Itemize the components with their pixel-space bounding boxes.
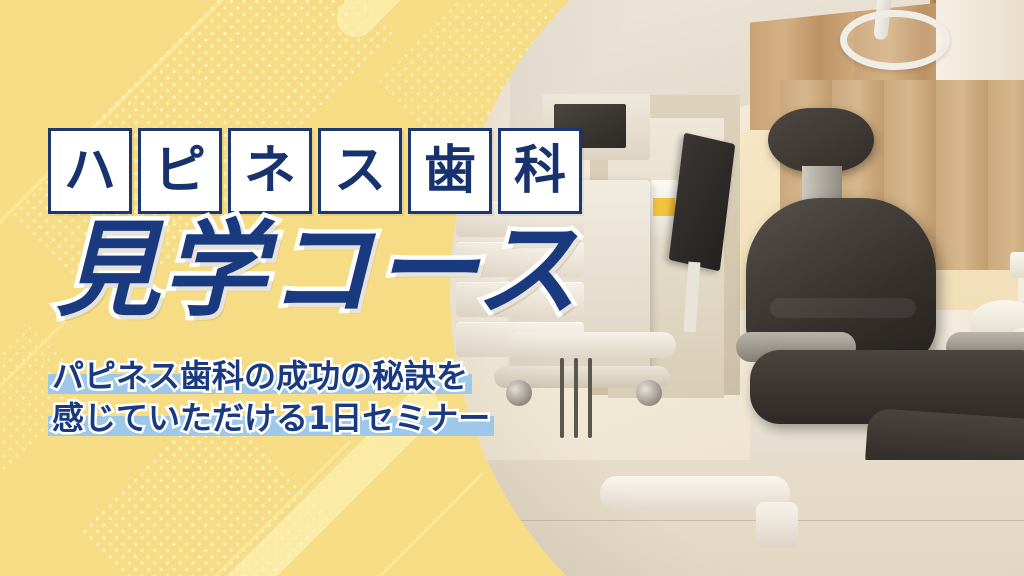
brand-char-label: 歯 — [424, 145, 476, 197]
headline: 見学コース — [56, 218, 581, 322]
brand-char-box-3: ネ — [228, 128, 312, 214]
brand-char-box-6: 科 — [498, 128, 582, 214]
brand-char-label: 科 — [514, 145, 566, 197]
subtitle-line-1: パピネス歯科の成功の秘訣を — [52, 358, 468, 396]
brand-name-boxes: ハ ピ ネ ス 歯 科 — [48, 128, 582, 214]
brand-char-box-2: ピ — [138, 128, 222, 214]
stripe — [0, 0, 8, 215]
brand-char-label: ネ — [244, 145, 296, 197]
subtitle-text: 感じていただける1日セミナー — [52, 399, 490, 437]
brand-char-box-4: ス — [318, 128, 402, 214]
subtitle-line-2: 感じていただける1日セミナー — [52, 400, 490, 438]
brand-char-label: ハ — [64, 145, 116, 197]
brand-char-label: ス — [334, 145, 386, 197]
brand-char-box-5: 歯 — [408, 128, 492, 214]
subtitle-block: パピネス歯科の成功の秘訣を 感じていただける1日セミナー — [52, 358, 490, 442]
brand-char-label: ピ — [154, 145, 206, 197]
banner-canvas: ハ ピ ネ ス 歯 科 見学コース パピネス歯科の成功の秘訣を 感じていただける… — [0, 0, 1024, 576]
subtitle-text: パピネス歯科の成功の秘訣を — [52, 357, 468, 395]
brand-char-box-1: ハ — [48, 128, 132, 214]
